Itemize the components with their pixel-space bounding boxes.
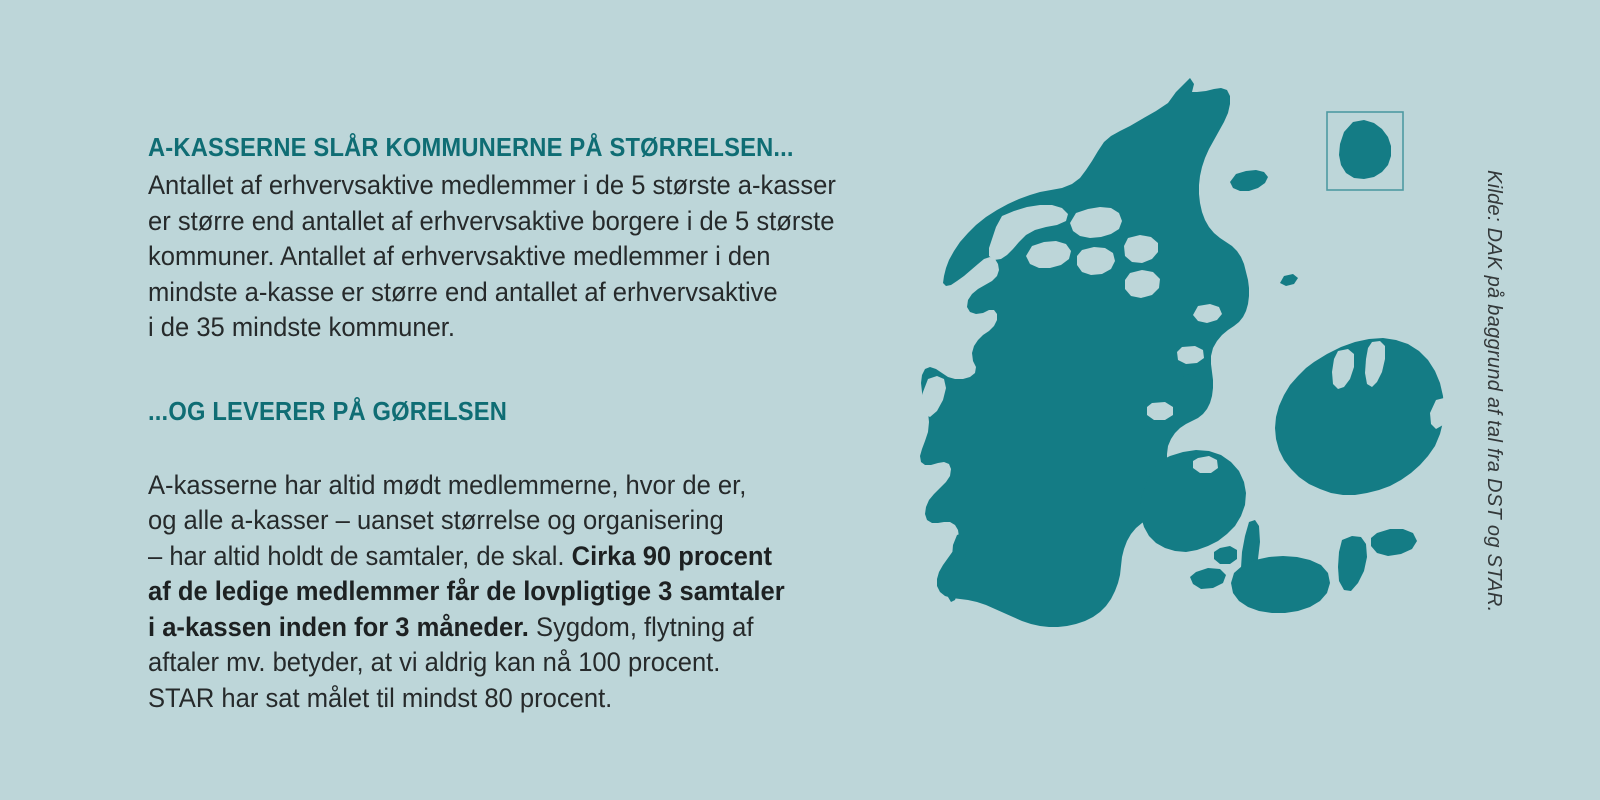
lolland-island — [1231, 556, 1330, 613]
infographic-canvas: A-KASSERNE SLÅR KOMMUNERNE PÅ STØRRELSEN… — [0, 0, 1600, 800]
taasinge-island — [1214, 546, 1237, 564]
aeroe-island — [1190, 568, 1226, 589]
block-2-heading: ...OG LEVERER PÅ GØRELSEN — [148, 398, 855, 427]
denmark-map — [880, 70, 1460, 710]
block-1-heading: A-KASSERNE SLÅR KOMMUNERNE PÅ STØRRELSEN… — [148, 134, 855, 163]
anholt-island — [1280, 274, 1298, 286]
laesoe-island — [1230, 170, 1268, 191]
text-column: A-KASSERNE SLÅR KOMMUNERNE PÅ STØRRELSEN… — [148, 134, 908, 716]
moen-island — [1371, 529, 1417, 556]
text-block-1: A-KASSERNE SLÅR KOMMUNERNE PÅ STØRRELSEN… — [148, 134, 908, 346]
falster-island — [1338, 536, 1367, 591]
bornholm-island — [1339, 120, 1391, 179]
zealand-island — [1275, 338, 1444, 495]
east-jutland-fjord-3 — [1147, 402, 1173, 420]
block-2-body: A-kasserne har altid mødt medlemmerne, h… — [148, 432, 881, 716]
denmark-map-svg — [880, 70, 1460, 710]
block-1-body: Antallet af erhvervsaktive medlemmer i d… — [148, 168, 881, 346]
text-block-2: ...OG LEVERER PÅ GØRELSEN A-kasserne har… — [148, 398, 908, 716]
source-credit: Kilde: DAK på baggrund af tal fra DST og… — [1482, 170, 1505, 613]
